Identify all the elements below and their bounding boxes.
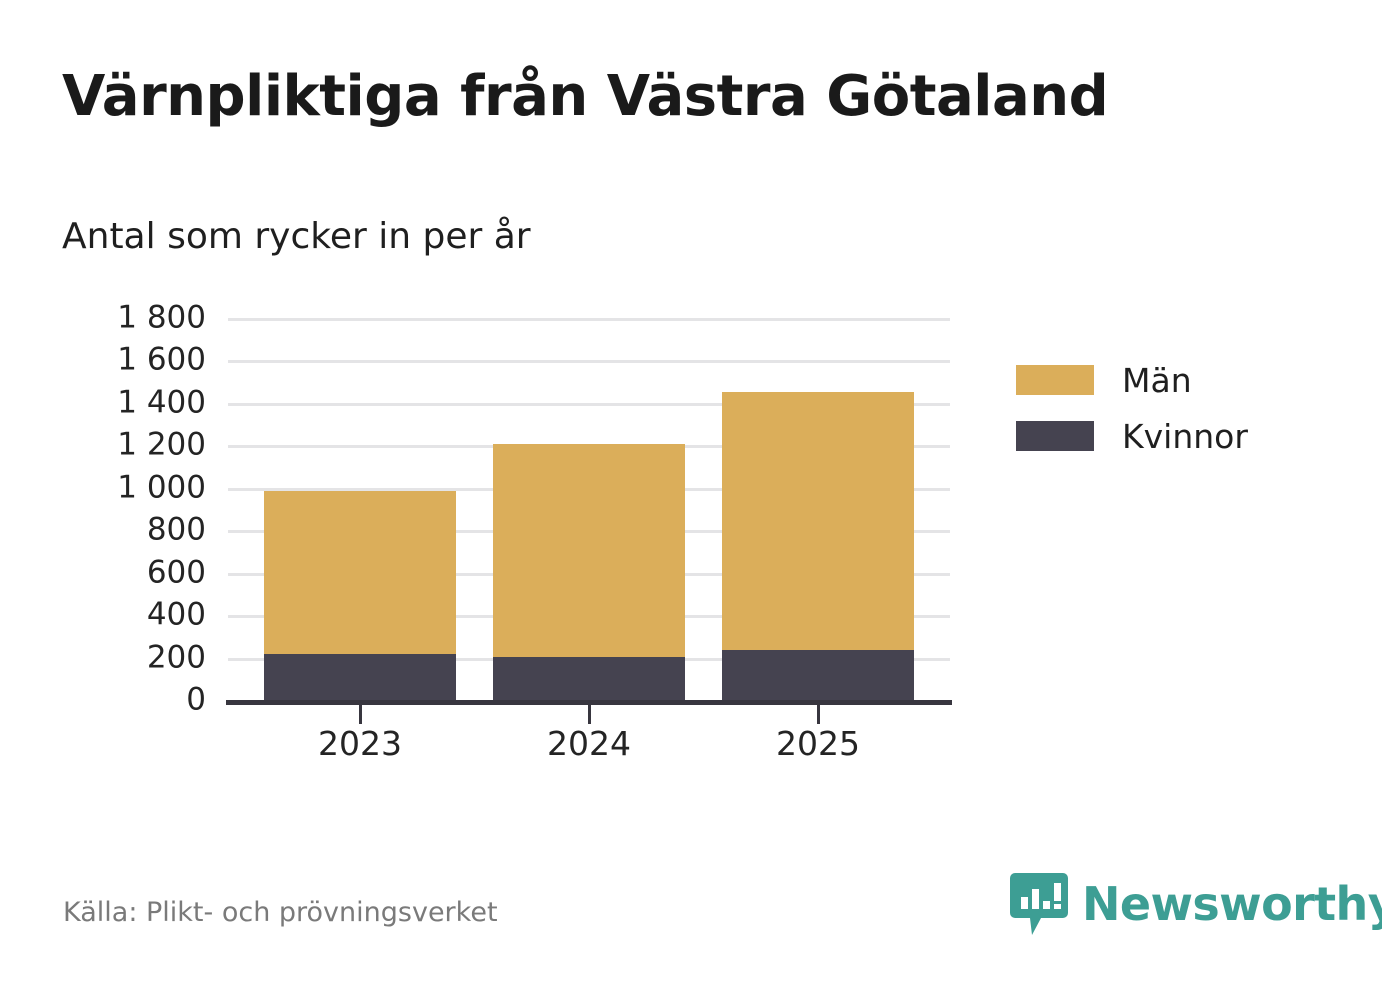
newsworthy-logo[interactable]: Newsworthy [1010, 873, 1382, 935]
y-tick-label-400: 400 [147, 600, 206, 631]
x-tick-label-2025: 2025 [776, 724, 860, 763]
page-title: Värnpliktiga från Västra Götaland [62, 64, 1108, 129]
x-tick-mark-2025 [817, 705, 820, 724]
chart-subtitle: Antal som rycker in per år [62, 216, 531, 257]
y-tick-label-1400: 1 400 [117, 387, 206, 418]
y-tick-label-1200: 1 200 [117, 430, 206, 461]
bar-segment-women-2024[interactable] [493, 657, 685, 701]
x-tick-mark-2024 [588, 705, 591, 724]
y-tick-label-0: 0 [186, 685, 206, 716]
x-tick-mark-2023 [359, 705, 362, 724]
x-tick-label-2024: 2024 [547, 724, 631, 763]
gridline-1800 [228, 318, 950, 321]
legend-swatch-men-icon [1016, 365, 1094, 395]
y-axis: 0 200 400 600 800 1 000 1 200 1 400 1 60… [0, 300, 206, 710]
gridline-1600 [228, 360, 950, 363]
bar-group-2024[interactable] [493, 444, 685, 700]
bar-segment-women-2023[interactable] [264, 654, 456, 700]
chart-canvas: Värnpliktiga från Västra Götaland Antal … [0, 0, 1382, 999]
legend-swatch-women-icon [1016, 421, 1094, 451]
newsworthy-logo-text: Newsworthy [1082, 881, 1382, 927]
legend-item-men[interactable]: Män [1016, 352, 1248, 408]
legend-item-women[interactable]: Kvinnor [1016, 408, 1248, 464]
y-tick-label-200: 200 [147, 642, 206, 673]
source-note: Källa: Plikt- och prövningsverket [63, 897, 498, 928]
bar-segment-men-2024[interactable] [493, 444, 685, 656]
bar-group-2023[interactable] [264, 491, 456, 700]
plot-area [228, 318, 950, 700]
y-tick-label-800: 800 [147, 515, 206, 546]
bar-segment-men-2025[interactable] [722, 392, 914, 650]
y-tick-label-1000: 1 000 [117, 472, 206, 503]
x-tick-label-2023: 2023 [318, 724, 402, 763]
newsworthy-bars-speech-bubble-icon [1010, 873, 1068, 935]
legend-label-women: Kvinnor [1122, 417, 1248, 456]
legend-label-men: Män [1122, 361, 1192, 400]
bar-segment-men-2023[interactable] [264, 491, 456, 654]
legend: Män Kvinnor [1016, 352, 1248, 464]
plot-frame [228, 300, 950, 700]
bar-segment-women-2025[interactable] [722, 650, 914, 700]
bar-group-2025[interactable] [722, 392, 914, 700]
y-tick-label-1800: 1 800 [117, 303, 206, 334]
y-tick-label-1600: 1 600 [117, 345, 206, 376]
y-tick-label-600: 600 [147, 557, 206, 588]
